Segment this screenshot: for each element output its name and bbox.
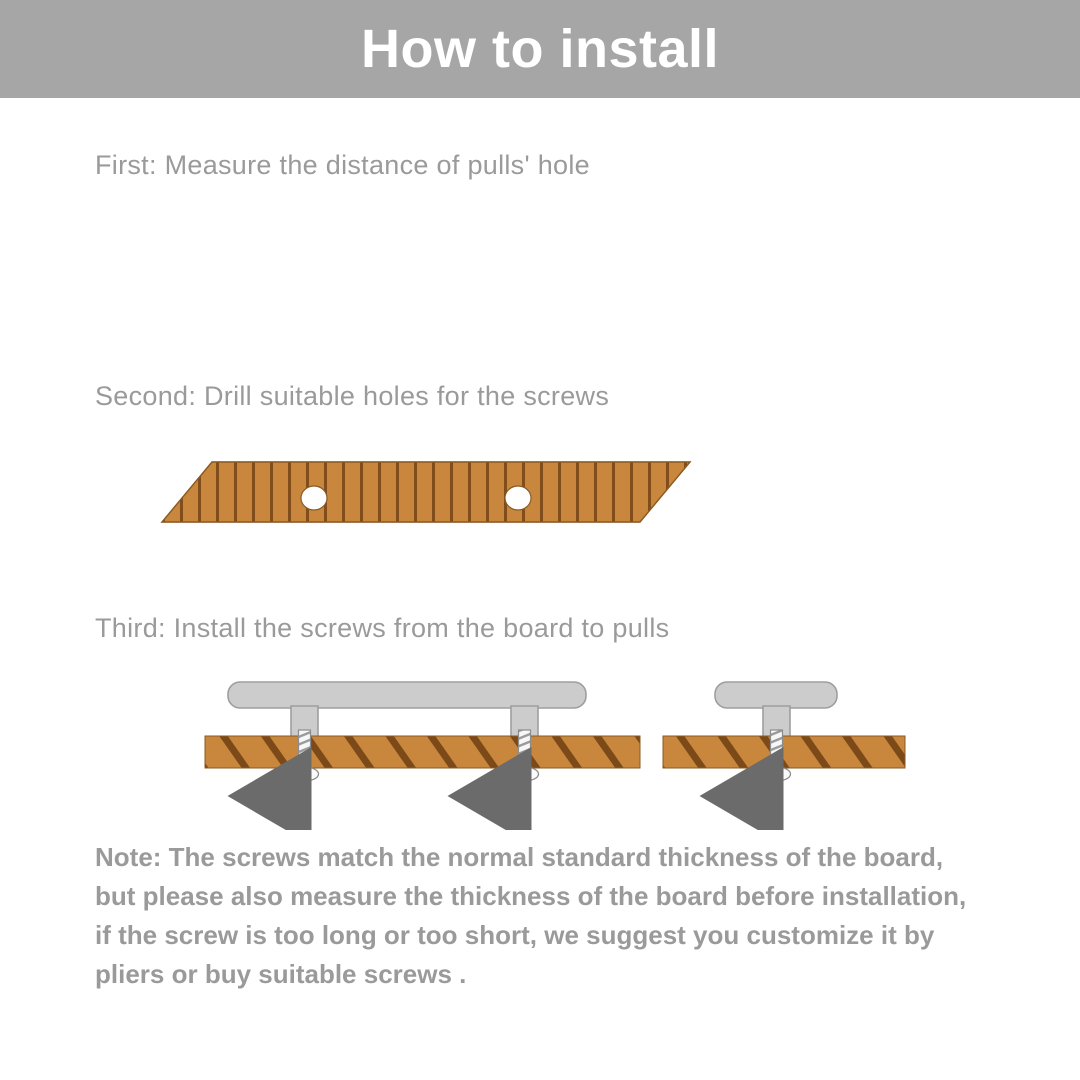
note-line-1: Note: The screws match the normal standa… bbox=[95, 838, 995, 877]
wood-board-perspective bbox=[150, 458, 710, 528]
pull-handle-bar-left-step3 bbox=[228, 682, 586, 708]
header-banner: How to install bbox=[0, 0, 1080, 98]
install-screws-figure bbox=[0, 660, 1080, 830]
drill-holes-figure bbox=[0, 440, 1080, 560]
measure-distance-figure bbox=[0, 200, 1080, 350]
step-1-caption: First: Measure the distance of pulls' ho… bbox=[95, 150, 590, 181]
note-line-2: but please also measure the thickness of… bbox=[95, 877, 995, 916]
step-2-caption: Second: Drill suitable holes for the scr… bbox=[95, 381, 609, 412]
note-line-4: pliers or buy suitable screws . bbox=[95, 955, 995, 994]
note-block: Note: The screws match the normal standa… bbox=[95, 838, 995, 994]
wood-board-cross-section-left-step3 bbox=[205, 736, 640, 768]
note-line-3: if the screw is too long or too short, w… bbox=[95, 916, 995, 955]
wood-board-cross-section-right-step3 bbox=[663, 736, 905, 768]
drilled-hole-2 bbox=[505, 486, 531, 510]
drilled-hole-1 bbox=[301, 486, 327, 510]
page-title: How to install bbox=[361, 22, 719, 76]
pull-knob-bar-right-step3 bbox=[715, 682, 837, 708]
step-3-caption: Third: Install the screws from the board… bbox=[95, 613, 669, 644]
